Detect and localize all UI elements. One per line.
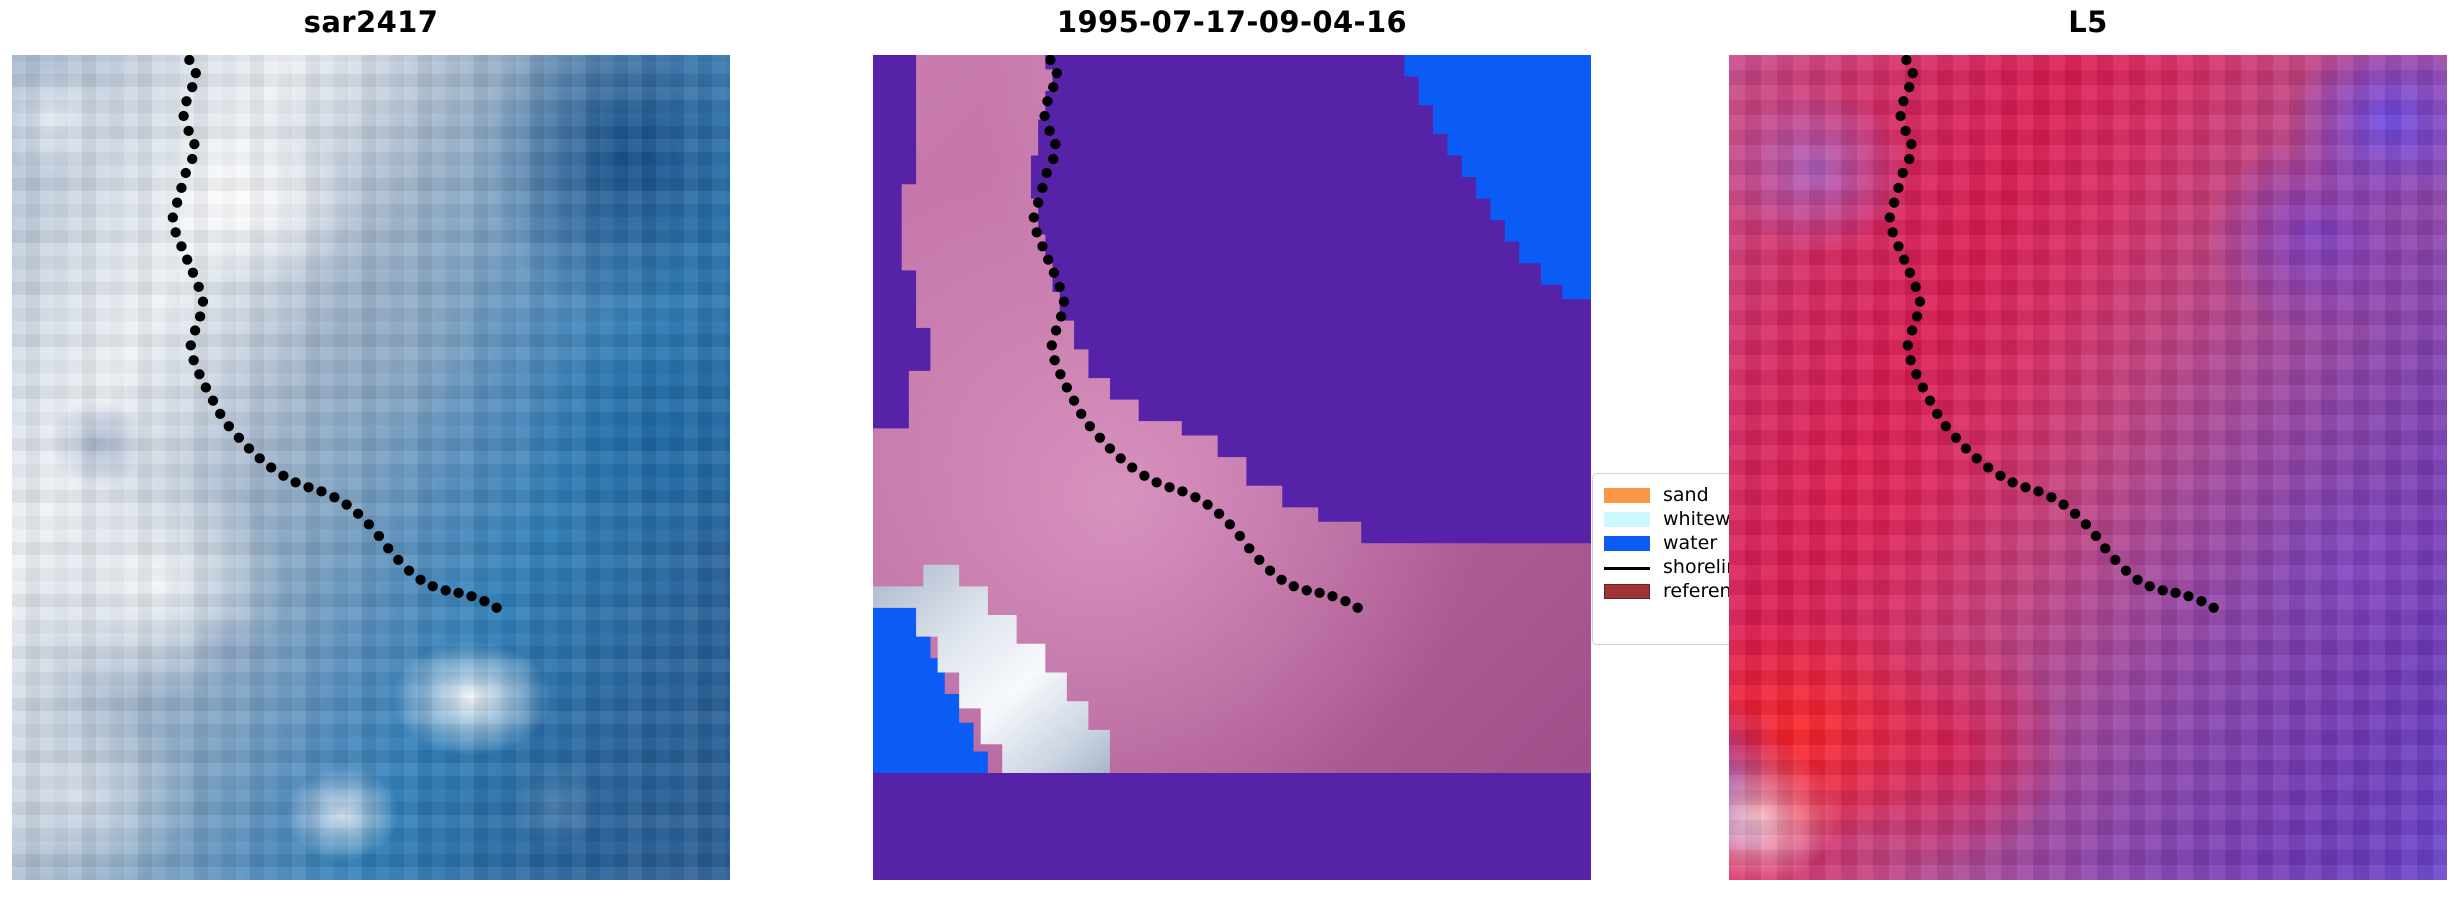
legend-swatch-reference: [1604, 584, 1650, 599]
panel-title-classified: 1995-07-17-09-04-16: [873, 2, 1591, 42]
sar-image: [12, 55, 730, 880]
l5-image: [1729, 55, 2447, 880]
panel-sar: [12, 55, 730, 880]
legend-label-water: water: [1663, 531, 1717, 555]
l5-pixel-texture: [1729, 55, 2447, 880]
shoreline-line-icon: [1604, 567, 1650, 570]
panel-l5: [1729, 55, 2447, 880]
panel-classified: [873, 55, 1591, 880]
panel-title-sar: sar2417: [12, 2, 730, 42]
sar-speckle-layer: [12, 55, 730, 880]
classification-image: [873, 55, 1591, 880]
legend-swatch-water: [1604, 536, 1650, 551]
legend-swatch-sand: [1604, 488, 1650, 503]
class-whitewater-mask: [873, 55, 1591, 773]
panel-title-l5: L5: [1729, 2, 2447, 42]
legend-label-sand: sand: [1663, 483, 1709, 507]
figure-canvas: sar2417: [0, 0, 2460, 897]
legend-swatch-whitewater: [1604, 512, 1650, 527]
legend-swatch-shoreline: [1604, 560, 1650, 575]
